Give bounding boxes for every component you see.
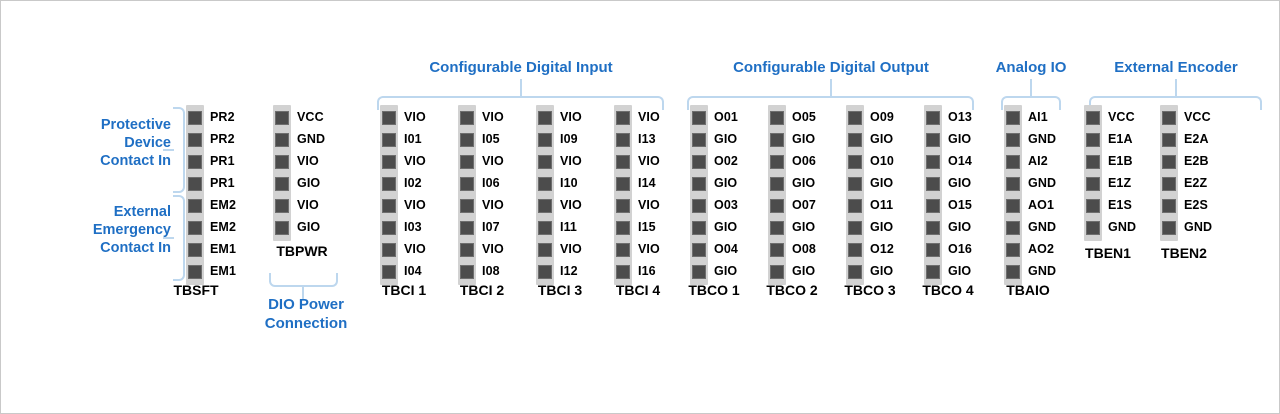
pin-square	[1086, 177, 1100, 191]
pin-row: O09	[846, 107, 864, 129]
pin-row: O01	[690, 107, 708, 129]
emergency-line-2: Emergency	[41, 221, 171, 239]
pin-label: O06	[792, 154, 816, 168]
pin-row: AO1	[1004, 195, 1022, 217]
pin-square	[275, 199, 289, 213]
pin-row: GIO	[924, 173, 942, 195]
pin-label: GIO	[948, 176, 971, 190]
pin-label: I05	[482, 132, 500, 146]
pin-label: O02	[714, 154, 738, 168]
pin-label: VIO	[404, 110, 426, 124]
pin-row: VIO	[458, 107, 476, 129]
bracket-dio-power	[269, 273, 338, 287]
pin-square	[382, 177, 396, 191]
pin-strip-tbaio: AI1GNDAI2GNDAO1GNDAO2GND	[1004, 105, 1022, 285]
pin-row: O02	[690, 151, 708, 173]
pin-square	[188, 177, 202, 191]
pin-strip-tbco2: O05GIOO06GIOO07GIOO08GIO	[768, 105, 786, 285]
pin-strip-tbco1: O01GIOO02GIOO03GIOO04GIO	[690, 105, 708, 285]
pin-label: I13	[638, 132, 656, 146]
pin-label: I01	[404, 132, 422, 146]
part-name-tbsft: TBSFT	[141, 282, 251, 298]
pin-row: I13	[614, 129, 632, 151]
pin-label: O14	[948, 154, 972, 168]
pin-label: E2Z	[1184, 176, 1207, 190]
pin-row: O13	[924, 107, 942, 129]
pin-row: I15	[614, 217, 632, 239]
pin-row: I05	[458, 129, 476, 151]
pin-square	[1086, 155, 1100, 169]
pin-label: GIO	[948, 132, 971, 146]
pin-square	[1162, 221, 1176, 235]
pin-square	[926, 111, 940, 125]
pin-row: PR1	[186, 151, 204, 173]
pin-square	[538, 243, 552, 257]
pin-square	[1162, 133, 1176, 147]
pin-label: PR2	[210, 132, 235, 146]
pin-row: VIO	[458, 195, 476, 217]
pin-row: O06	[768, 151, 786, 173]
pin-square	[460, 199, 474, 213]
pin-square	[460, 177, 474, 191]
pin-row: E1A	[1084, 129, 1102, 151]
pin-square	[538, 155, 552, 169]
pin-square	[770, 199, 784, 213]
pin-square	[848, 265, 862, 279]
pin-square	[1006, 243, 1020, 257]
label-protective-device-contact-in: Protective Device Contact In	[41, 116, 171, 170]
pin-label: GIO	[297, 220, 320, 234]
pin-label: O16	[948, 242, 972, 256]
bracket-external-encoder-stem	[1175, 79, 1177, 97]
pin-row: VIO	[380, 239, 398, 261]
pin-square	[460, 155, 474, 169]
pin-strip-tbci1: VIOI01VIOI02VIOI03VIOI04	[380, 105, 398, 285]
pin-label: GND	[1028, 132, 1056, 146]
pin-label: EM1	[210, 264, 236, 278]
pin-label: PR1	[210, 176, 235, 190]
pin-label: O08	[792, 242, 816, 256]
pin-row: GIO	[768, 217, 786, 239]
pin-label: GND	[1028, 220, 1056, 234]
pin-square	[926, 133, 940, 147]
pin-label: I16	[638, 264, 656, 278]
protective-line-3: Contact In	[41, 152, 171, 170]
pin-row: I16	[614, 261, 632, 283]
pin-label: PR1	[210, 154, 235, 168]
pin-label: VIO	[482, 154, 504, 168]
pin-row: O12	[846, 239, 864, 261]
pin-row: I11	[536, 217, 554, 239]
pin-square	[382, 243, 396, 257]
pin-square	[848, 177, 862, 191]
emergency-line-3: Contact In	[41, 239, 171, 257]
pin-label: I11	[560, 220, 577, 234]
pin-square	[692, 133, 706, 147]
pin-square	[1162, 111, 1176, 125]
pin-row: GND	[273, 129, 291, 151]
pin-square	[770, 243, 784, 257]
pin-square	[848, 221, 862, 235]
pin-row: I02	[380, 173, 398, 195]
pin-label: I10	[560, 176, 578, 190]
pin-square	[382, 221, 396, 235]
pin-square	[770, 133, 784, 147]
pin-label: VIO	[560, 154, 582, 168]
pin-row: I12	[536, 261, 554, 283]
pin-row: I10	[536, 173, 554, 195]
pin-row: VIO	[536, 195, 554, 217]
pin-label: E2S	[1184, 198, 1208, 212]
pin-row: VIO	[380, 107, 398, 129]
pin-label: VIO	[297, 198, 319, 212]
pin-label: VIO	[560, 242, 582, 256]
pin-square	[1086, 221, 1100, 235]
pin-label: E1A	[1108, 132, 1133, 146]
pin-square	[616, 199, 630, 213]
bracket-external-emergency	[173, 195, 185, 281]
pin-label: I15	[638, 220, 656, 234]
pin-square	[616, 155, 630, 169]
pin-row: VIO	[536, 239, 554, 261]
bracket-protective-device	[173, 107, 185, 193]
pin-row: E1Z	[1084, 173, 1102, 195]
bracket-protective-stem	[163, 149, 174, 151]
pin-square	[692, 177, 706, 191]
pin-label: AI1	[1028, 110, 1048, 124]
pin-square	[926, 177, 940, 191]
part-name-tben2: TBEN2	[1129, 245, 1239, 261]
pin-label: O10	[870, 154, 894, 168]
pin-label: GIO	[870, 132, 893, 146]
pin-label: E2A	[1184, 132, 1209, 146]
pin-label: GIO	[714, 220, 737, 234]
pin-row: GND	[1084, 217, 1102, 239]
pin-square	[538, 265, 552, 279]
pin-row: PR2	[186, 129, 204, 151]
pin-row: GND	[1160, 217, 1178, 239]
pin-row: O08	[768, 239, 786, 261]
pin-row: PR2	[186, 107, 204, 129]
pin-label: VIO	[638, 198, 660, 212]
pin-label: GIO	[870, 176, 893, 190]
pin-row: E1B	[1084, 151, 1102, 173]
pin-row: I03	[380, 217, 398, 239]
pin-square	[926, 199, 940, 213]
pin-square	[275, 177, 289, 191]
part-name-tbaio: TBAIO	[973, 282, 1083, 298]
pin-row: VCC	[1084, 107, 1102, 129]
pin-label: O15	[948, 198, 972, 212]
pin-label: O12	[870, 242, 894, 256]
pin-label: GIO	[714, 176, 737, 190]
pin-square	[770, 155, 784, 169]
pin-label: VIO	[482, 198, 504, 212]
pin-square	[1006, 111, 1020, 125]
protective-line-1: Protective	[41, 116, 171, 134]
pin-label: GND	[1184, 220, 1212, 234]
pin-square	[382, 155, 396, 169]
pin-square	[616, 221, 630, 235]
pin-square	[1086, 133, 1100, 147]
pin-row: I09	[536, 129, 554, 151]
pin-row: EM1	[186, 261, 204, 283]
pin-label: GIO	[792, 220, 815, 234]
pin-strip-tbco4: O13GIOO14GIOO15GIOO16GIO	[924, 105, 942, 285]
pin-label: O05	[792, 110, 816, 124]
pin-label: GND	[1028, 176, 1056, 190]
pin-label: GIO	[948, 220, 971, 234]
pin-square	[188, 111, 202, 125]
pin-square	[692, 111, 706, 125]
pin-label: VCC	[1184, 110, 1211, 124]
pin-row: VIO	[614, 107, 632, 129]
pin-label: VCC	[297, 110, 324, 124]
pin-row: GIO	[924, 129, 942, 151]
pin-row: AI1	[1004, 107, 1022, 129]
pin-square	[460, 111, 474, 125]
pin-square	[538, 221, 552, 235]
pin-row: VCC	[1160, 107, 1178, 129]
pin-label: VIO	[297, 154, 319, 168]
pin-label: GIO	[948, 264, 971, 278]
pin-row: I08	[458, 261, 476, 283]
pin-label: GND	[1108, 220, 1136, 234]
pin-square	[1006, 265, 1020, 279]
pinout-diagram: Protective Device Contact In External Em…	[0, 0, 1280, 414]
pin-square	[1006, 155, 1020, 169]
pin-row: O14	[924, 151, 942, 173]
label-external-emergency-contact-in: External Emergency Contact In	[41, 203, 171, 257]
pin-square	[770, 111, 784, 125]
pin-label: AI2	[1028, 154, 1048, 168]
pin-row: O03	[690, 195, 708, 217]
pin-square	[188, 243, 202, 257]
pin-square	[538, 111, 552, 125]
pin-label: O13	[948, 110, 972, 124]
pin-row: O10	[846, 151, 864, 173]
pin-strip-tbci4: VIOI13VIOI14VIOI15VIOI16	[614, 105, 632, 285]
pin-strip-tbpwr: VCCGNDVIOGIOVIOGIO	[273, 105, 291, 241]
bracket-digital-output-stem	[830, 79, 832, 97]
heading-external-encoder: External Encoder	[1086, 59, 1266, 76]
pin-strip-tbci3: VIOI09VIOI10VIOI11VIOI12	[536, 105, 554, 285]
pin-row: GND	[1004, 129, 1022, 151]
bracket-emergency-stem	[163, 237, 174, 239]
pin-square	[848, 155, 862, 169]
heading-configurable-digital-input: Configurable Digital Input	[361, 59, 681, 76]
pin-row: E2A	[1160, 129, 1178, 151]
pin-row: I07	[458, 217, 476, 239]
pin-row: GIO	[690, 129, 708, 151]
pin-label: O03	[714, 198, 738, 212]
pin-square	[538, 199, 552, 213]
pin-square	[848, 199, 862, 213]
pin-row: I14	[614, 173, 632, 195]
pin-row: GIO	[273, 173, 291, 195]
pin-label: EM2	[210, 220, 236, 234]
pin-label: VCC	[1108, 110, 1135, 124]
pin-label: I02	[404, 176, 422, 190]
pin-square	[1162, 177, 1176, 191]
pin-label: I14	[638, 176, 656, 190]
pin-label: VIO	[482, 242, 504, 256]
pin-square	[460, 265, 474, 279]
pin-square	[926, 221, 940, 235]
pin-label: VIO	[404, 198, 426, 212]
pin-row: GIO	[768, 261, 786, 283]
protective-line-2: Device	[41, 134, 171, 152]
pin-label: O11	[870, 198, 893, 212]
pin-label: E1B	[1108, 154, 1133, 168]
pin-row: O04	[690, 239, 708, 261]
pin-row: GND	[1004, 261, 1022, 283]
pin-square	[926, 265, 940, 279]
pin-row: E2S	[1160, 195, 1178, 217]
pin-square	[538, 177, 552, 191]
pin-square	[616, 177, 630, 191]
pin-row: VIO	[536, 151, 554, 173]
pin-square	[460, 221, 474, 235]
pin-row: O05	[768, 107, 786, 129]
pin-row: GIO	[768, 173, 786, 195]
pin-row: VIO	[536, 107, 554, 129]
pin-label: I06	[482, 176, 500, 190]
pin-label: GIO	[792, 264, 815, 278]
dio-power-line-2: Connection	[241, 314, 371, 333]
pin-row: PR1	[186, 173, 204, 195]
pin-label: I09	[560, 132, 578, 146]
pin-label: EM2	[210, 198, 236, 212]
pin-row: O11	[846, 195, 864, 217]
pin-square	[692, 243, 706, 257]
pin-square	[275, 111, 289, 125]
pin-row: GIO	[846, 261, 864, 283]
pin-row: AI2	[1004, 151, 1022, 173]
pin-row: E1S	[1084, 195, 1102, 217]
pin-label: AO2	[1028, 242, 1054, 256]
pin-square	[1086, 199, 1100, 213]
pin-label: GIO	[792, 176, 815, 190]
pin-square	[460, 133, 474, 147]
pin-label: GIO	[714, 132, 737, 146]
pin-label: VIO	[482, 110, 504, 124]
pin-square	[382, 199, 396, 213]
heading-configurable-digital-output: Configurable Digital Output	[671, 59, 991, 76]
pin-row: GND	[1004, 217, 1022, 239]
heading-analog-io: Analog IO	[976, 59, 1086, 76]
pin-square	[1162, 199, 1176, 213]
pin-label: GIO	[870, 264, 893, 278]
pin-row: VIO	[614, 151, 632, 173]
pin-label: VIO	[560, 198, 582, 212]
bracket-digital-input-stem	[520, 79, 522, 97]
pin-row: GIO	[846, 173, 864, 195]
pin-row: I04	[380, 261, 398, 283]
pin-square	[1162, 155, 1176, 169]
pin-row: VIO	[273, 151, 291, 173]
pin-square	[188, 199, 202, 213]
pin-row: I06	[458, 173, 476, 195]
pin-label: GIO	[297, 176, 320, 190]
pin-label: O09	[870, 110, 894, 124]
pin-row: O16	[924, 239, 942, 261]
pin-row: VIO	[458, 151, 476, 173]
pin-square	[692, 199, 706, 213]
pin-label: GND	[1028, 264, 1056, 278]
pin-square	[770, 177, 784, 191]
pin-strip-tbco3: O09GIOO10GIOO11GIOO12GIO	[846, 105, 864, 285]
pin-label: PR2	[210, 110, 235, 124]
pin-square	[382, 111, 396, 125]
pin-square	[188, 133, 202, 147]
pin-row: VCC	[273, 107, 291, 129]
pin-row: GIO	[846, 129, 864, 151]
pin-square	[770, 265, 784, 279]
pin-label: O04	[714, 242, 738, 256]
bracket-analog-io-stem	[1030, 79, 1032, 97]
pin-label: E1Z	[1108, 176, 1131, 190]
pin-label: VIO	[404, 154, 426, 168]
pin-square	[616, 133, 630, 147]
pin-row: EM2	[186, 195, 204, 217]
pin-row: O07	[768, 195, 786, 217]
pin-strip-tbci2: VIOI05VIOI06VIOI07VIOI08	[458, 105, 476, 285]
pin-row: VIO	[380, 195, 398, 217]
pin-square	[616, 111, 630, 125]
pin-row: EM2	[186, 217, 204, 239]
pin-label: I07	[482, 220, 500, 234]
pin-square	[848, 243, 862, 257]
pin-row: I01	[380, 129, 398, 151]
pin-row: E2Z	[1160, 173, 1178, 195]
pin-row: GIO	[924, 217, 942, 239]
pin-row: GIO	[273, 217, 291, 239]
label-dio-power-connection: DIO Power Connection	[241, 295, 371, 333]
pin-square	[1006, 199, 1020, 213]
pin-row: VIO	[458, 239, 476, 261]
pin-label: I03	[404, 220, 422, 234]
pin-square	[1006, 221, 1020, 235]
pin-label: E2B	[1184, 154, 1209, 168]
pin-square	[275, 133, 289, 147]
pin-square	[275, 155, 289, 169]
pin-square	[848, 111, 862, 125]
pin-row: GIO	[690, 217, 708, 239]
pin-square	[538, 133, 552, 147]
pin-square	[382, 133, 396, 147]
pin-square	[188, 221, 202, 235]
pin-label: O07	[792, 198, 816, 212]
pin-label: O01	[714, 110, 738, 124]
pin-square	[692, 155, 706, 169]
pin-row: GIO	[690, 261, 708, 283]
pin-square	[692, 265, 706, 279]
pin-row: GIO	[690, 173, 708, 195]
pin-row: VIO	[380, 151, 398, 173]
pin-row: AO2	[1004, 239, 1022, 261]
pin-strip-tben2: VCCE2AE2BE2ZE2SGND	[1160, 105, 1178, 241]
pin-label: EM1	[210, 242, 236, 256]
pin-label: VIO	[638, 154, 660, 168]
pin-square	[1006, 177, 1020, 191]
pin-row: GIO	[924, 261, 942, 283]
pin-square	[188, 155, 202, 169]
pin-row: GIO	[768, 129, 786, 151]
pin-row: EM1	[186, 239, 204, 261]
pin-label: I04	[404, 264, 422, 278]
pin-square	[692, 221, 706, 235]
